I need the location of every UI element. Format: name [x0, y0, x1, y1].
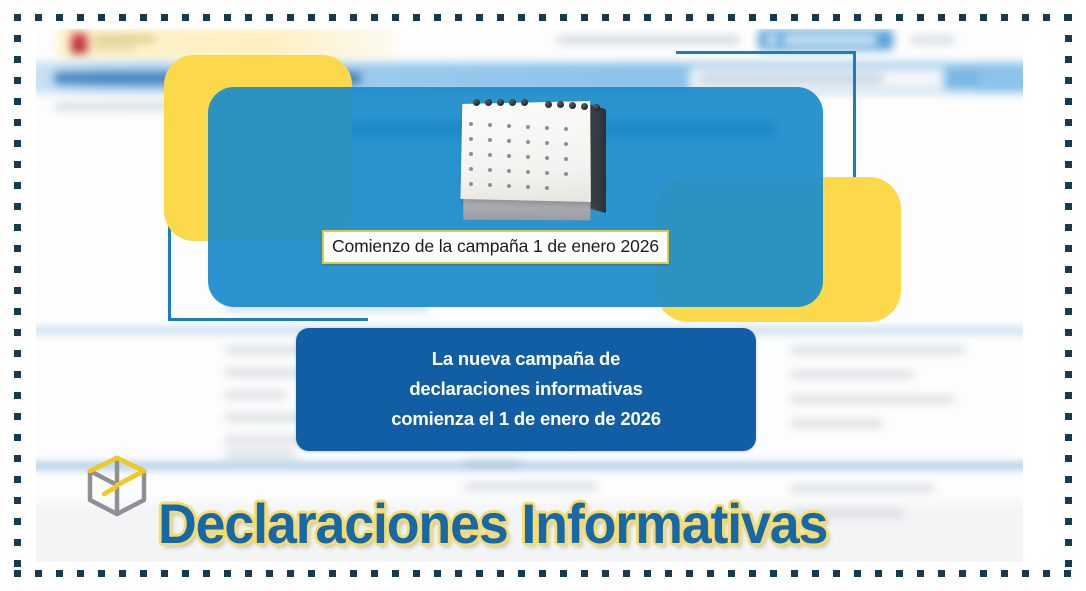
- campaign-message-line-2: declaraciones informativas: [306, 374, 746, 404]
- calendar-date-grid: [467, 120, 583, 192]
- page-title: Declaraciones Informativas: [158, 491, 945, 556]
- dotted-border-top: [14, 14, 1072, 21]
- personal-area-label: [783, 36, 877, 44]
- graphic-stage: Comienzo de la campaña 1 de enero 2026 L…: [36, 29, 1023, 562]
- site-top-banner: [57, 29, 394, 58]
- desk-calendar-photo: [441, 84, 621, 234]
- top-utility-links: [557, 36, 741, 44]
- dotted-border-left: [14, 14, 21, 577]
- site-logo-icon: [71, 33, 87, 53]
- cube-logo: [74, 444, 160, 530]
- calendar-caption: Comienzo de la campaña 1 de enero 2026: [322, 230, 669, 264]
- cube-icon: [74, 444, 160, 530]
- outer-frame: Comienzo de la campaña 1 de enero 2026 L…: [0, 0, 1086, 591]
- dotted-border-right: [1065, 14, 1072, 577]
- campaign-message-box: La nueva campaña de declaraciones inform…: [296, 328, 756, 451]
- user-icon: [767, 35, 777, 45]
- dotted-border-bottom: [14, 570, 1072, 577]
- site-logo-subtext: [93, 45, 134, 50]
- language-selector: [911, 36, 954, 44]
- site-logo-text: [93, 36, 154, 42]
- campaign-message-line-3: comienza el 1 de enero de 2026: [306, 404, 746, 434]
- campaign-message-line-1: La nueva campaña de: [306, 344, 746, 374]
- site-search-button: [944, 69, 979, 89]
